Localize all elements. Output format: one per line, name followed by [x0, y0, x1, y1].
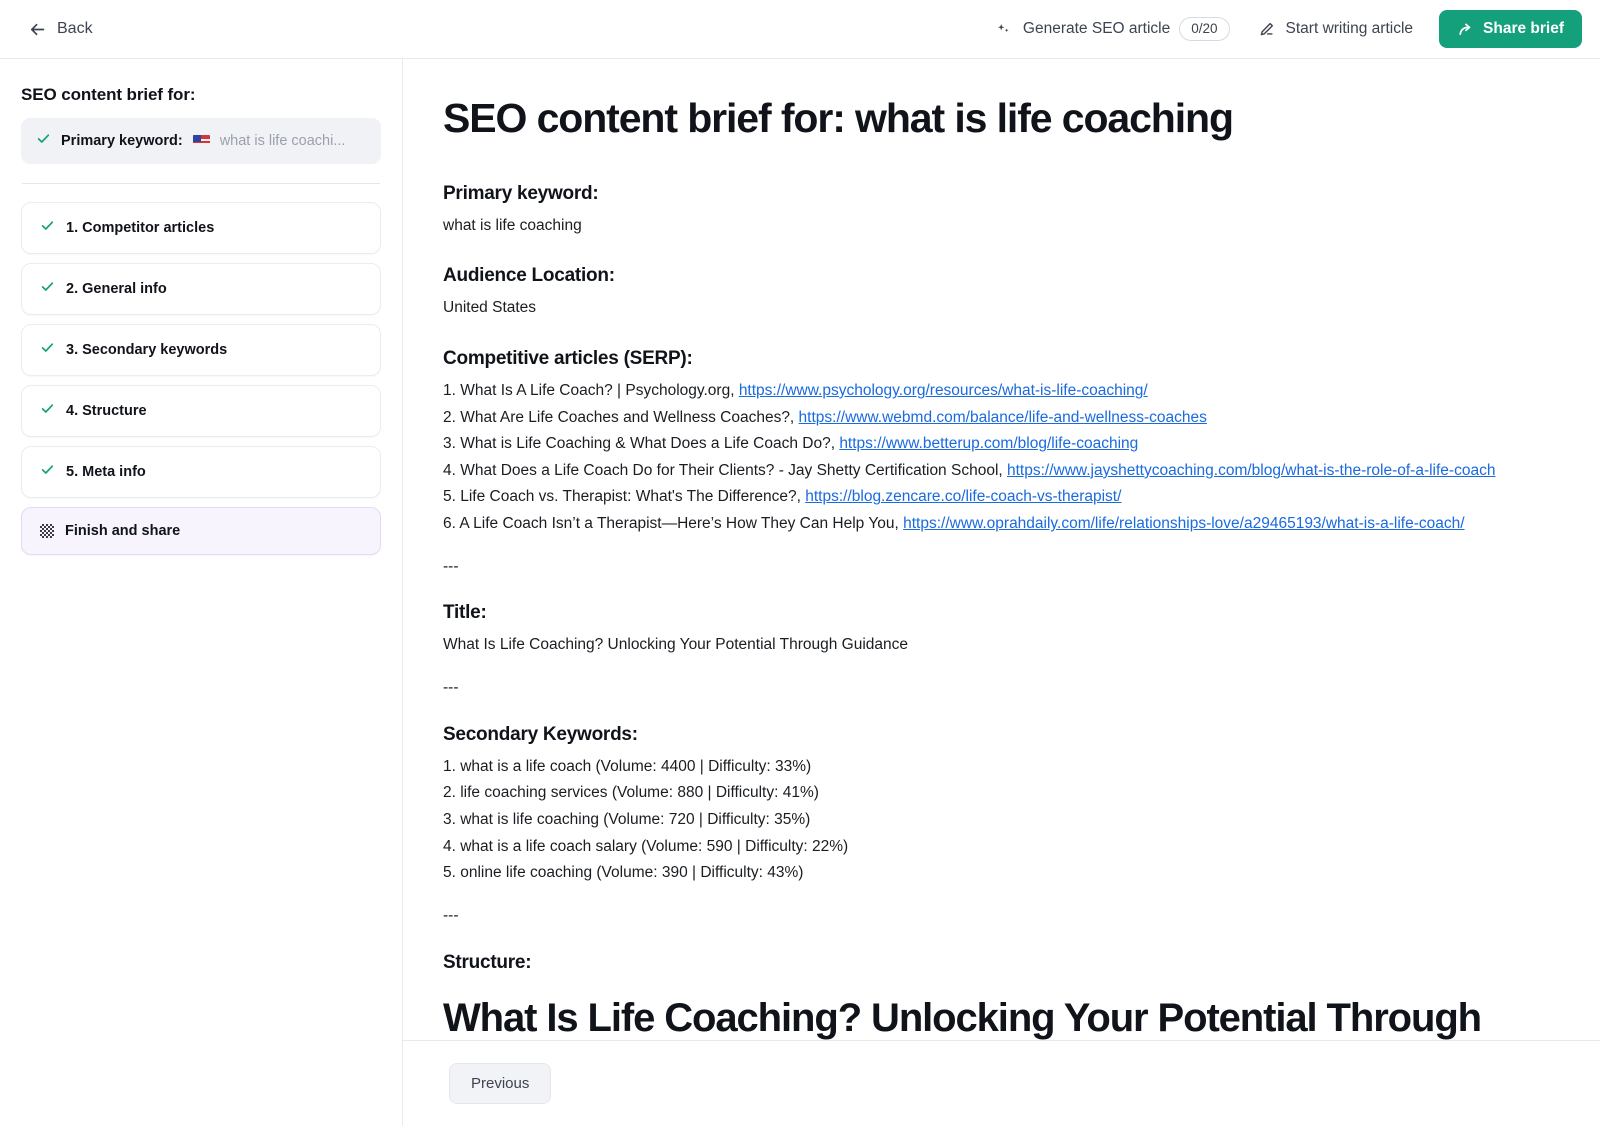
serp-item: 4. What Does a Life Coach Do for Their C… — [443, 458, 1544, 485]
topbar-actions: Generate SEO article 0/20 Start writing … — [981, 9, 1582, 50]
serp-item-link[interactable]: https://www.betterup.com/blog/life-coach… — [839, 435, 1138, 452]
title-section: Title: What Is Life Coaching? Unlocking … — [443, 602, 1544, 659]
secondary-keyword-item: 3. what is life coaching (Volume: 720 | … — [443, 807, 1544, 834]
serp-item-link[interactable]: https://blog.zencare.co/life-coach-vs-th… — [805, 488, 1121, 505]
sidebar-item-label: 2. General info — [66, 281, 167, 297]
primary-keyword-section: Primary keyword: what is life coaching — [443, 183, 1544, 240]
seo-brief-app: Back Generate SEO article 0/20 — [0, 0, 1600, 1126]
start-writing-article-button[interactable]: Start writing article — [1244, 12, 1427, 46]
serp-item: 3. What is Life Coaching & What Does a L… — [443, 431, 1544, 458]
pencil-icon — [1258, 21, 1275, 38]
sidebar-item-finish-and-share[interactable]: Finish and share — [21, 507, 381, 555]
secondary-keyword-item: 2. life coaching services (Volume: 880 |… — [443, 780, 1544, 807]
check-icon — [40, 340, 55, 360]
sidebar-item-competitor-articles[interactable]: 1. Competitor articles — [21, 202, 381, 254]
page-title: SEO content brief for: what is life coac… — [443, 95, 1544, 143]
generate-seo-article-button[interactable]: Generate SEO article 0/20 — [981, 9, 1244, 50]
serp-item-link[interactable]: https://www.oprahdaily.com/life/relation… — [903, 515, 1464, 532]
section-heading: Structure: — [443, 952, 1544, 974]
section-heading: Secondary Keywords: — [443, 724, 1544, 746]
sidebar-item-primary-keyword[interactable]: Primary keyword: what is life coachi... — [21, 118, 381, 164]
check-icon — [40, 401, 55, 421]
check-icon — [40, 279, 55, 299]
sidebar-item-label: 3. Secondary keywords — [66, 342, 227, 358]
primary-keyword-value: what is life coachi... — [220, 133, 346, 149]
serp-item-text: 4. What Does a Life Coach Do for Their C… — [443, 462, 1007, 479]
sidebar-item-label: 4. Structure — [66, 403, 147, 419]
serp-item: 1. What Is A Life Coach? | Psychology.or… — [443, 378, 1544, 405]
sidebar-item-meta-info[interactable]: 5. Meta info — [21, 446, 381, 498]
share-brief-button[interactable]: Share brief — [1439, 10, 1582, 48]
previous-button[interactable]: Previous — [449, 1063, 551, 1104]
audience-location-section: Audience Location: United States — [443, 265, 1544, 322]
separator: --- — [443, 554, 1544, 581]
check-icon — [40, 462, 55, 482]
serp-item: 2. What Are Life Coaches and Wellness Co… — [443, 405, 1544, 432]
sidebar-item-label: 5. Meta info — [66, 464, 146, 480]
sidebar-item-label: Finish and share — [65, 523, 180, 539]
section-heading: Title: — [443, 602, 1544, 624]
generate-seo-article-label: Generate SEO article — [1023, 20, 1170, 38]
serp-item-text: 3. What is Life Coaching & What Does a L… — [443, 435, 839, 452]
top-bar: Back Generate SEO article 0/20 — [0, 0, 1600, 59]
section-heading: Primary keyword: — [443, 183, 1544, 205]
bottom-bar: Previous — [403, 1040, 1600, 1126]
separator: --- — [443, 675, 1544, 702]
serp-item: 6. A Life Coach Isn’t a Therapist—Here’s… — [443, 511, 1544, 538]
section-heading: Competitive articles (SERP): — [443, 348, 1544, 370]
serp-item-text: 6. A Life Coach Isn’t a Therapist—Here’s… — [443, 515, 903, 532]
arrow-left-icon — [28, 20, 47, 39]
serp-item-text: 2. What Are Life Coaches and Wellness Co… — [443, 409, 799, 426]
back-button[interactable]: Back — [22, 14, 99, 45]
sidebar-step-list: 1. Competitor articles 2. General info 3… — [21, 202, 381, 555]
serp-section: Competitive articles (SERP): 1. What Is … — [443, 348, 1544, 538]
main-wrap: SEO content brief for: what is life coac… — [403, 59, 1600, 1126]
serp-item-link[interactable]: https://www.webmd.com/balance/life-and-w… — [799, 409, 1207, 426]
title-value: What Is Life Coaching? Unlocking Your Po… — [443, 632, 1544, 659]
sidebar-divider — [22, 183, 380, 184]
sidebar-title: SEO content brief for: — [21, 85, 381, 105]
separator: --- — [443, 903, 1544, 930]
sidebar-item-label: 1. Competitor articles — [66, 220, 214, 236]
quota-badge: 0/20 — [1179, 17, 1229, 42]
us-flag-icon — [193, 135, 210, 147]
secondary-keyword-item: 5. online life coaching (Volume: 390 | D… — [443, 860, 1544, 887]
serp-item: 5. Life Coach vs. Therapist: What's The … — [443, 484, 1544, 511]
serp-item-text: 5. Life Coach vs. Therapist: What's The … — [443, 488, 805, 505]
secondary-keywords-section: Secondary Keywords: 1. what is a life co… — [443, 724, 1544, 887]
sidebar-item-secondary-keywords[interactable]: 3. Secondary keywords — [21, 324, 381, 376]
primary-keyword-value: what is life coaching — [443, 213, 1544, 240]
check-icon — [36, 131, 51, 151]
primary-keyword-label: Primary keyword: — [61, 133, 183, 149]
body-row: SEO content brief for: Primary keyword: … — [0, 59, 1600, 1126]
secondary-keyword-item: 1. what is a life coach (Volume: 4400 | … — [443, 754, 1544, 781]
serp-item-text: 1. What Is A Life Coach? | Psychology.or… — [443, 382, 739, 399]
brief-document: SEO content brief for: what is life coac… — [403, 59, 1600, 1040]
secondary-keyword-item: 4. what is a life coach salary (Volume: … — [443, 834, 1544, 861]
serp-item-link[interactable]: https://www.jayshettycoaching.com/blog/w… — [1007, 462, 1495, 479]
sidebar: SEO content brief for: Primary keyword: … — [0, 59, 403, 1126]
structure-h1: What Is Life Coaching? Unlocking Your Po… — [443, 996, 1544, 1040]
share-arrow-icon — [1457, 21, 1474, 38]
section-heading: Audience Location: — [443, 265, 1544, 287]
grid-icon — [40, 524, 54, 538]
audience-location-value: United States — [443, 295, 1544, 322]
start-writing-article-label: Start writing article — [1286, 20, 1413, 38]
check-icon — [40, 218, 55, 238]
sidebar-item-general-info[interactable]: 2. General info — [21, 263, 381, 315]
back-label: Back — [57, 20, 93, 38]
sidebar-item-structure[interactable]: 4. Structure — [21, 385, 381, 437]
serp-item-link[interactable]: https://www.psychology.org/resources/wha… — [739, 382, 1148, 399]
structure-section: Structure: What Is Life Coaching? Unlock… — [443, 952, 1544, 1040]
sparkle-icon — [995, 21, 1012, 38]
share-brief-label: Share brief — [1483, 20, 1564, 38]
